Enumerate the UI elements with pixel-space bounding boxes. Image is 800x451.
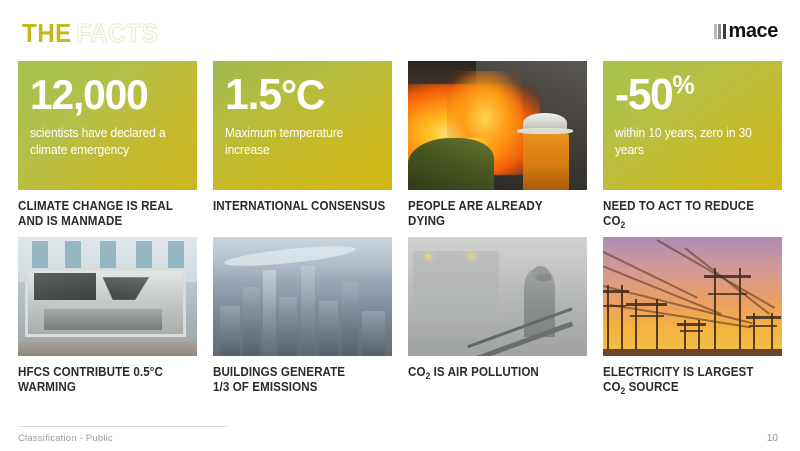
fact-caption-1: CLIMATE CHANGE IS REAL AND IS MANMADE: [18, 199, 197, 229]
fact-card-6[interactable]: BUILDINGS GENERATE1/3 OF EMISSIONS: [213, 237, 392, 396]
caption-suffix: SOURCE: [625, 380, 678, 394]
caption-line-2: CO: [603, 214, 621, 228]
chiller-machinery: [44, 309, 162, 330]
fact-caption-2: INTERNATIONAL CONSENSUS: [213, 199, 392, 214]
fact-caption-4: NEED TO ACT TO REDUCECO2: [603, 199, 782, 230]
fact-caption-5: HFCS CONTRIBUTE 0.5°CWARMING: [18, 365, 197, 395]
stat-value: -50%: [615, 72, 765, 118]
chiller-coil-left: [34, 273, 96, 299]
caption-line-2: 1/3 OF EMISSIONS: [213, 380, 317, 394]
title-the: THE: [22, 18, 72, 48]
footer-divider: [18, 426, 228, 427]
ground-layer: [18, 342, 197, 356]
caption-line-2: CO: [603, 380, 621, 394]
logo-wordmark: mace: [728, 21, 778, 41]
stat-value: 12,000: [30, 72, 180, 118]
smog-layer: [408, 237, 587, 356]
stat-value-unit: °C: [281, 71, 324, 118]
pylon-tower: [753, 313, 773, 351]
fact-caption-7: CO2 IS AIR POLLUTION: [408, 365, 587, 381]
fact-caption-3: PEOPLE ARE ALREADYDYING: [408, 199, 587, 229]
fact-card-1[interactable]: 12,000 scientists have declared a climat…: [18, 61, 197, 230]
caption-suffix: IS AIR POLLUTION: [430, 365, 539, 379]
stat-tile-scientists: 12,000 scientists have declared a climat…: [18, 61, 197, 190]
chiller-coil-right: [103, 277, 150, 300]
fact-caption-8: ELECTRICITY IS LARGESTCO2 SOURCE: [603, 365, 782, 396]
title-facts: FACTS: [76, 18, 158, 48]
page-number: 10: [767, 433, 778, 444]
logo-bars-icon: [714, 24, 728, 39]
pylon-tower: [714, 268, 741, 351]
caption-subscript: 2: [621, 386, 626, 396]
stat-description: scientists have declared a climate emerg…: [30, 125, 179, 158]
caption-line-1: HFCS CONTRIBUTE 0.5°C: [18, 365, 163, 379]
hvac-chiller-photo: [18, 237, 197, 356]
page-title: THEFACTS: [22, 18, 158, 48]
air-pollution-smog-photo: [408, 237, 587, 356]
wildfire-firefighter-photo: [408, 61, 587, 190]
slide-header: THEFACTS mace: [0, 18, 800, 52]
vegetation-layer: [408, 138, 494, 190]
stat-description: Maximum temperature increase: [225, 125, 374, 158]
fact-card-3[interactable]: PEOPLE ARE ALREADYDYING: [408, 61, 587, 230]
chiller-unit: [25, 268, 186, 337]
fact-card-5[interactable]: HFCS CONTRIBUTE 0.5°CWARMING: [18, 237, 197, 396]
caption-prefix: CO: [408, 365, 426, 379]
caption-line-2: DYING: [408, 214, 445, 228]
stat-value-unit: %: [672, 69, 694, 99]
pylon-tower: [607, 285, 623, 352]
fact-card-4[interactable]: -50% within 10 years, zero in 30 years N…: [603, 61, 782, 230]
fact-card-8[interactable]: ELECTRICITY IS LARGESTCO2 SOURCE: [603, 237, 782, 396]
horizon-ground: [603, 349, 782, 356]
electricity-pylons-sunset-photo: [603, 237, 782, 356]
caption-subscript: 2: [621, 220, 626, 230]
caption-line-1: PEOPLE ARE ALREADY: [408, 199, 543, 213]
fact-card-2[interactable]: 1.5°C Maximum temperature increase INTER…: [213, 61, 392, 230]
caption-line-1: ELECTRICITY IS LARGEST: [603, 365, 754, 379]
classification-label: Classification - Public: [18, 433, 113, 444]
city-skyline-aerial-photo: [213, 237, 392, 356]
stat-description: within 10 years, zero in 30 years: [615, 125, 764, 158]
facts-grid: 12,000 scientists have declared a climat…: [18, 61, 782, 396]
flame-highlight: [447, 71, 522, 138]
caption-line-2: WARMING: [18, 380, 76, 394]
stat-tile-temperature: 1.5°C Maximum temperature increase: [213, 61, 392, 190]
caption-subscript: 2: [426, 371, 431, 381]
atmospheric-haze: [213, 237, 392, 356]
fact-card-7[interactable]: CO2 IS AIR POLLUTION: [408, 237, 587, 396]
firefighter-helmet-brim: [517, 128, 572, 134]
caption-line-1: BUILDINGS GENERATE: [213, 365, 345, 379]
slide-canvas: THEFACTS mace 12,000 scientists have dec…: [0, 0, 800, 451]
stat-value-number: -50: [615, 70, 672, 119]
pylon-tower: [635, 299, 658, 351]
caption-line-1: NEED TO ACT TO REDUCE: [603, 199, 754, 213]
mace-logo: mace: [714, 20, 778, 42]
pylon-tower: [684, 320, 700, 351]
fact-caption-6: BUILDINGS GENERATE1/3 OF EMISSIONS: [213, 365, 392, 395]
stat-value-number: 1.5: [225, 70, 281, 119]
stat-tile-reduction: -50% within 10 years, zero in 30 years: [603, 61, 782, 190]
stat-value: 1.5°C: [225, 72, 375, 118]
